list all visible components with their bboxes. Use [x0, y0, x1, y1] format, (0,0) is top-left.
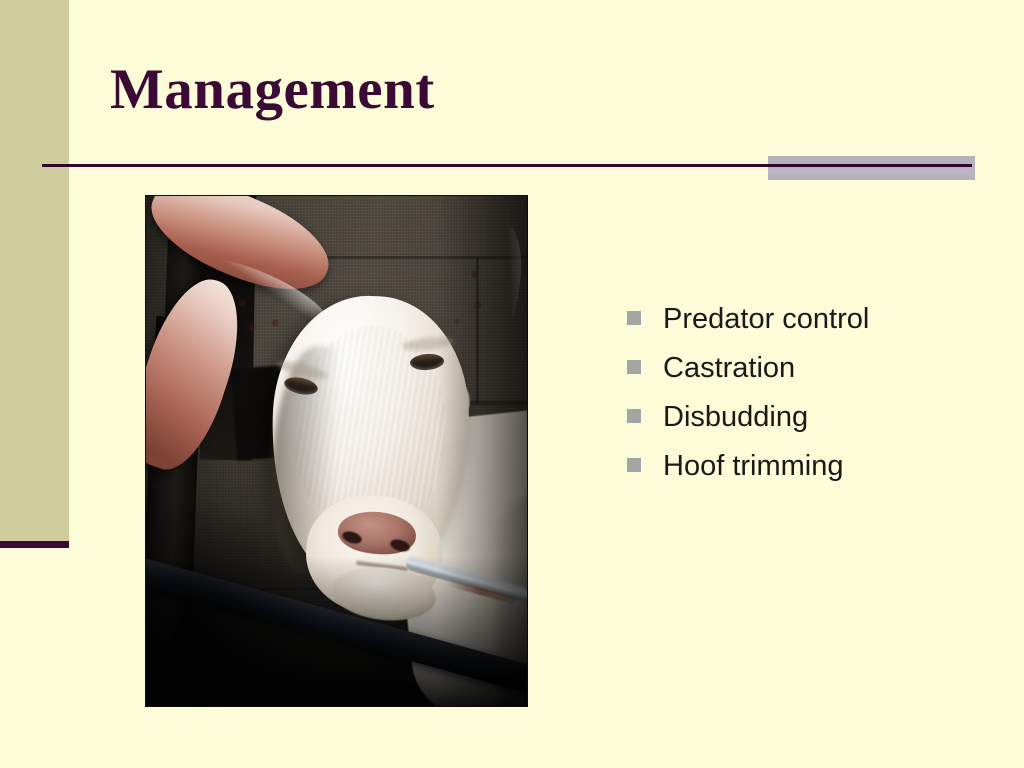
square-bullet-icon — [627, 458, 641, 472]
goat-photo-canvas — [146, 196, 527, 706]
goat-photo — [145, 195, 528, 707]
bullet-list: Predator control Castration Disbudding H… — [627, 300, 967, 496]
title-divider-line — [42, 164, 972, 167]
presentation-slide: Management — [0, 0, 1024, 768]
left-accent-band — [0, 0, 69, 541]
square-bullet-icon — [627, 360, 641, 374]
list-item: Predator control — [627, 300, 967, 349]
square-bullet-icon — [627, 311, 641, 325]
page-title: Management — [110, 58, 435, 122]
list-item-label: Disbudding — [663, 398, 808, 436]
list-item: Castration — [627, 349, 967, 398]
list-item: Hoof trimming — [627, 447, 967, 496]
list-item-label: Predator control — [663, 300, 869, 338]
title-accent-bar-lower — [768, 168, 973, 175]
list-item: Disbudding — [627, 398, 967, 447]
square-bullet-icon — [627, 409, 641, 423]
left-accent-band-underline — [0, 541, 69, 548]
photo-shadow-bottom — [146, 556, 527, 706]
list-item-label: Castration — [663, 349, 795, 387]
list-item-label: Hoof trimming — [663, 447, 844, 485]
